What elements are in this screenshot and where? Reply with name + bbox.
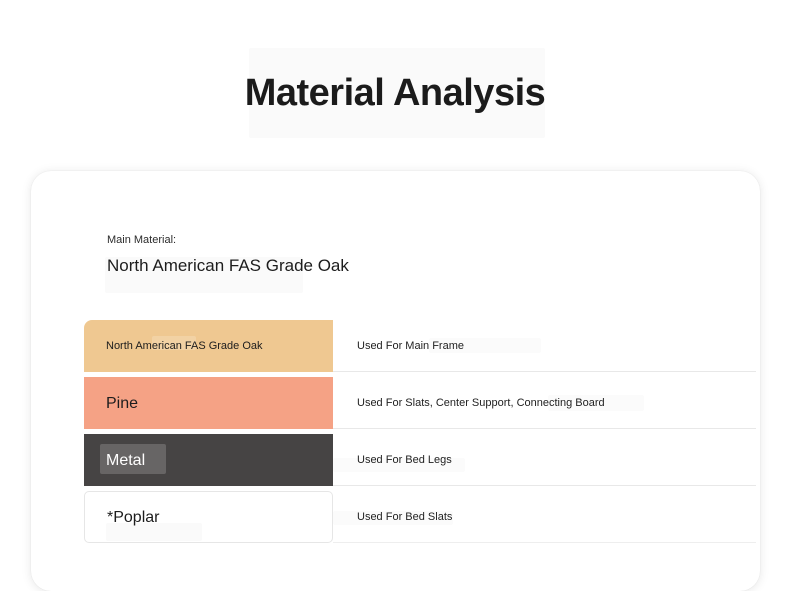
material-name-cell: Pine — [84, 377, 333, 429]
material-name-cell: North American FAS Grade Oak — [84, 320, 333, 372]
material-usage-cell: Used For Main Frame — [333, 320, 756, 372]
material-name-label: Metal — [106, 451, 145, 470]
materials-table: North American FAS Grade Oak Used For Ma… — [84, 320, 756, 543]
material-usage-label: Used For Main Frame — [357, 339, 464, 353]
material-usage-label: Used For Slats, Center Support, Connecti… — [357, 396, 605, 410]
material-usage-label: Used For Bed Legs — [357, 453, 452, 467]
material-name-label: Pine — [106, 394, 138, 413]
table-row: Metal Used For Bed Legs — [84, 434, 756, 486]
material-name-cell: *Poplar — [84, 491, 333, 543]
material-usage-label: Used For Bed Slats — [357, 510, 452, 524]
table-row: *Poplar Used For Bed Slats — [84, 491, 756, 543]
material-name-label: *Poplar — [107, 508, 159, 527]
material-analysis-card: Main Material: North American FAS Grade … — [31, 171, 760, 591]
page-title-container: Material Analysis — [0, 48, 790, 138]
main-material-label: Main Material: — [107, 233, 367, 247]
material-usage-cell: Used For Bed Legs — [333, 434, 756, 486]
material-name-cell: Metal — [84, 434, 333, 486]
material-name-label: North American FAS Grade Oak — [106, 340, 263, 353]
material-usage-cell: Used For Bed Slats — [333, 491, 756, 543]
table-row: Pine Used For Slats, Center Support, Con… — [84, 377, 756, 429]
material-usage-cell: Used For Slats, Center Support, Connecti… — [333, 377, 756, 429]
main-material-header: Main Material: North American FAS Grade … — [107, 233, 367, 275]
table-row: North American FAS Grade Oak Used For Ma… — [84, 320, 756, 372]
page-title: Material Analysis — [0, 48, 790, 138]
main-material-value: North American FAS Grade Oak — [107, 257, 367, 275]
